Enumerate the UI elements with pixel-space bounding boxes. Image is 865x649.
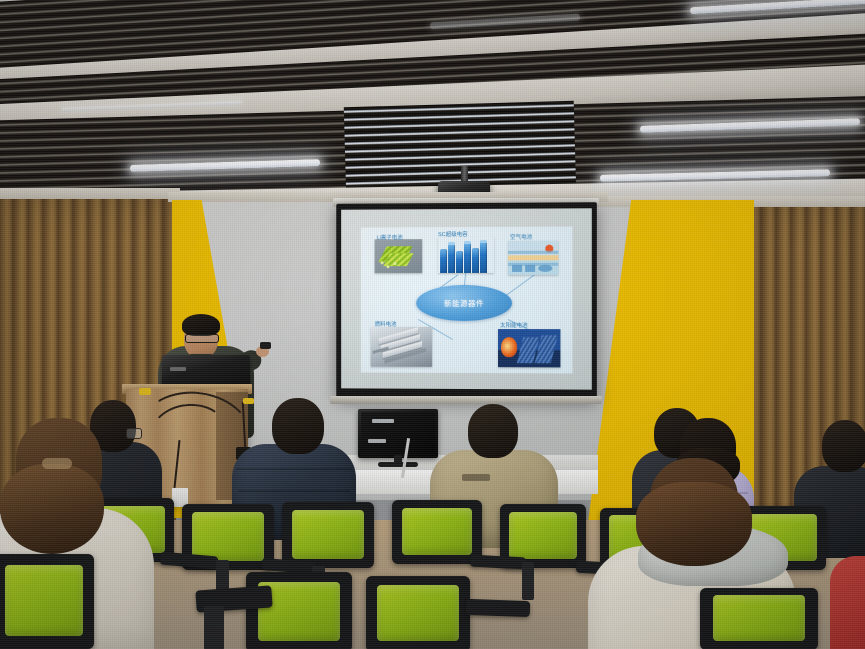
chair-row2-4[interactable]	[392, 500, 482, 564]
slide-center-node: 新能源器件	[416, 285, 512, 321]
audience-head-navy	[272, 398, 324, 454]
slide-label-air-battery: 空气电池	[510, 233, 532, 241]
sc-cell-5	[472, 248, 479, 273]
projection-screen: 新能源器件 Li离子电池	[336, 202, 597, 400]
presenter-remote-icon	[260, 342, 271, 349]
sc-terminal-2	[464, 241, 471, 244]
sc-terminal-3	[480, 240, 487, 243]
slide-label-li-ion: Li离子电池	[377, 233, 403, 241]
sc-cell-2	[448, 244, 455, 273]
chair-mechanism-post	[204, 606, 224, 649]
audience-cream-hair-tie	[42, 458, 72, 469]
wall-trim-left	[0, 188, 180, 199]
lecture-hall-photo: 新能源器件 Li离子电池	[0, 0, 865, 649]
presenter-hair	[182, 314, 220, 336]
presentation-slide: 新能源器件 Li离子电池	[361, 227, 573, 374]
chair-row1-2[interactable]	[246, 572, 352, 649]
li-ion-particle-3	[393, 262, 396, 265]
monitor-sticker-top	[372, 419, 394, 423]
chair-pad	[402, 508, 472, 555]
audience-cream-ponytail	[0, 464, 104, 554]
monitor-sticker-bottom	[368, 439, 386, 443]
chair-arm-post-3	[522, 562, 534, 600]
audience-torso-red	[830, 556, 865, 649]
chair-row2-3[interactable]	[282, 502, 374, 568]
sc-terminal-1	[448, 242, 455, 245]
audience-navy-puffer-seam-2	[238, 490, 350, 492]
slide-thumb-fuel-cell	[371, 327, 432, 367]
li-ion-particle-1	[381, 261, 384, 264]
sc-cell-3	[456, 251, 463, 273]
audience-head-black-right	[822, 420, 865, 472]
air-battery-band-1	[508, 251, 558, 254]
podium-cable-clip-yellow	[139, 388, 151, 395]
slide-thumb-solar-cell	[498, 329, 560, 367]
air-battery-cell-3	[538, 265, 552, 272]
audience-sherpa-hair	[636, 482, 752, 566]
monitor-stand-base	[378, 462, 418, 467]
sc-cell-1	[440, 249, 447, 273]
sc-cell-4	[464, 243, 471, 273]
chair-pad	[377, 585, 458, 641]
screen-surface: 新能源器件 Li离子电池	[341, 208, 592, 389]
chair-pad	[192, 512, 264, 561]
presenter-glasses-icon	[185, 334, 219, 343]
audience-glasses-side-icon	[126, 428, 142, 439]
chair-pad	[713, 595, 805, 641]
laptop-brand-logo	[170, 367, 186, 371]
sc-cell-6	[480, 242, 487, 273]
podium-cable-clip-yellow-2	[243, 398, 254, 404]
air-battery-cell-1	[512, 265, 522, 272]
slide-thumb-li-ion	[375, 239, 423, 273]
slide-thumb-supercapacitor	[438, 237, 494, 273]
screen-bottom-weight-bar	[330, 396, 602, 404]
desktop-monitor	[358, 409, 438, 458]
audience-khaki-logo-icon	[462, 474, 490, 481]
solar-cell-flame-icon	[501, 337, 517, 357]
slide-label-supercapacitor: SC超级电容	[438, 230, 468, 238]
chair-pad	[509, 512, 576, 559]
presenter-laptop	[162, 355, 250, 387]
slide-center-node-label: 新能源器件	[444, 297, 484, 308]
chair-armrest-front-right[interactable]	[466, 599, 531, 617]
ceiling	[0, 0, 865, 212]
chair-row1-4[interactable]	[700, 588, 818, 649]
slide-label-fuel-cell: 燃料电池	[375, 320, 397, 328]
chair-pad	[292, 510, 364, 559]
air-battery-cell-2	[525, 265, 535, 272]
li-ion-particle-2	[387, 265, 390, 268]
audience-head-khaki	[468, 404, 518, 458]
chair-row1-1[interactable]	[0, 554, 94, 649]
slide-thumb-air-battery	[508, 241, 558, 275]
slide-label-solar-cell: 太阳能电池	[500, 321, 528, 329]
chair-pad	[5, 565, 83, 635]
audience-navy-puffer-seam-1	[236, 468, 352, 470]
chair-row1-3[interactable]	[366, 576, 470, 649]
